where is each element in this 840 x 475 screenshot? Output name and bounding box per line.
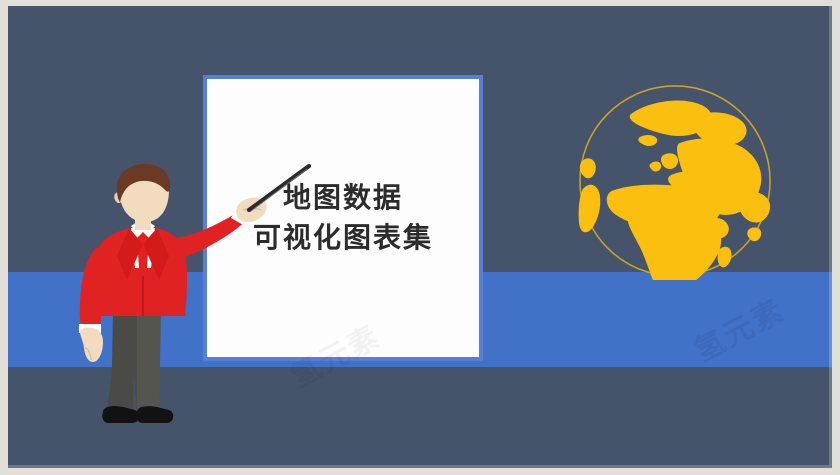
presenter-shoe-right	[136, 406, 173, 423]
presenter-leg-right	[137, 312, 161, 414]
presenter-hand-left	[80, 328, 103, 362]
presenter-pointer-stick	[249, 166, 309, 210]
slide-root: 地图数据 可视化图表集 氢元素 氢元素	[0, 0, 840, 475]
slide-canvas: 地图数据 可视化图表集 氢元素 氢元素	[8, 6, 832, 468]
presenter-pointer-highlight	[251, 169, 307, 211]
presenter-leg-left	[111, 312, 135, 414]
globe-icon	[576, 82, 774, 280]
presenter-figure	[63, 164, 313, 436]
presenter-shoe-left	[102, 406, 139, 423]
globe-landmasses	[579, 101, 771, 280]
